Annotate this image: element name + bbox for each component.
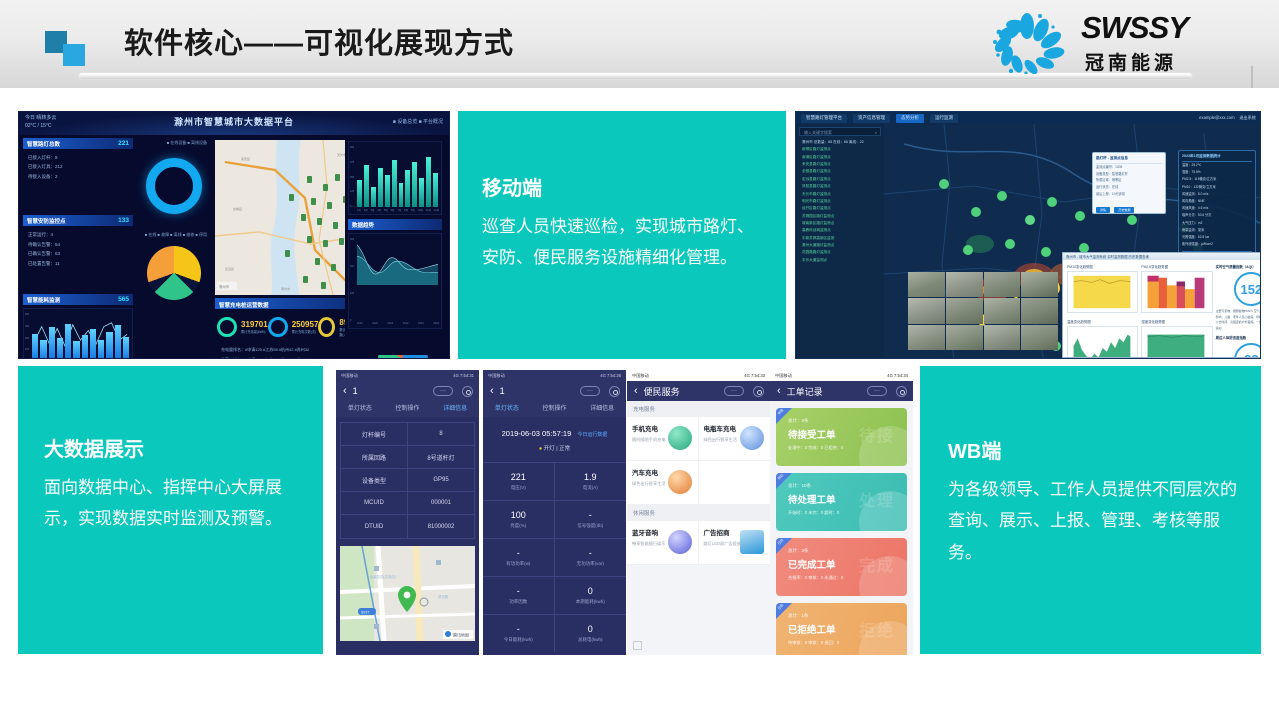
metric-label: 功率因数: [509, 599, 527, 605]
gis-tree-item[interactable]: 来安县路灯监测点: [802, 161, 881, 168]
more-icon[interactable]: ···: [433, 386, 453, 396]
metric-value: -: [589, 510, 592, 520]
row-value: 000001: [408, 492, 474, 514]
status-right: 4G 7:54:34: [887, 373, 908, 378]
service-item[interactable]: 汽车充电 绿色出行智享生活: [627, 461, 699, 505]
card-header-streetlight: 智慧路灯总数 221: [23, 138, 133, 149]
info-row: 风向角度：NNE: [1182, 198, 1252, 205]
service-grid-charging: 手机充电 随时随地手机充电 电瓶车充电 绿色出行智享生活 汽车充电 绿色出行智享…: [627, 417, 770, 505]
phone-statusbar: 中国移动 4G 7:54:33: [627, 370, 770, 381]
metric-label: 总耗电(kwh): [578, 637, 603, 643]
pm10-plot: [1068, 272, 1137, 312]
panel-bigdata-body: 面向数据中心、指挥中心大屏展示，实现数据实时监测及预警。: [44, 472, 303, 535]
metric-value: 0: [588, 624, 593, 634]
gis-username: example@xxx.com: [1199, 115, 1234, 120]
gis-tree-item[interactable]: 全椒县路灯监测点: [802, 168, 881, 175]
phone-tabs[interactable]: 单灯状态 控制操作 详细信息: [336, 401, 479, 417]
info-row: 大气压力：m2: [1182, 220, 1252, 227]
comfort-index-title: 周边人体舒适度指数: [1216, 335, 1260, 340]
bar-chart-y-axis: 4003002001000: [25, 313, 32, 359]
table-row: 灯杆编号 8: [341, 423, 474, 446]
camera-feed[interactable]: [1021, 325, 1058, 350]
metric-cell: - 今日能耗(kwh): [483, 614, 555, 652]
metric-cell: - 有功功率(w): [483, 538, 555, 576]
header-square-light-icon: [63, 44, 85, 66]
nav-title: 1: [353, 386, 358, 396]
temp-plot: [1068, 327, 1137, 358]
aqi-window-title: 滁州市 - 城市大气监测系统 实时监测数据 历史数据查询: [1066, 255, 1149, 259]
popup-row: 所属区域：琅琊区: [1096, 177, 1162, 184]
gis-tree-item[interactable]: 凤阳县路灯监测点: [802, 183, 881, 190]
temperature-trend-chart: [1067, 326, 1138, 358]
row-key: MCUID: [341, 492, 408, 514]
card-value: 133: [118, 217, 129, 224]
table-row: DTUID 81000002: [341, 515, 474, 538]
legend-security: ■ 在线 ■ 故障 ■ 离线 ■ 维修 ■ 停用: [137, 230, 211, 238]
back-icon[interactable]: ‹: [343, 385, 347, 397]
status-text: 开灯 | 正常: [544, 446, 571, 452]
gis-tree-item[interactable]: 滁州大道路灯监测点: [802, 242, 881, 249]
svg-text:明光市: 明光市: [281, 286, 290, 291]
gis-toolbar: 智慧路灯管理平台 资产信息管理 态势分析 运行监测 example@xxx.co…: [796, 112, 1260, 124]
aqi-content-grid: PM10变化趋势图 温度变化趋势图: [1063, 260, 1260, 358]
aqi-description: 主要污染物：细颗粒物PM2.5 空气质量：轻度污染 健康影响：儿童、老年人及心脏…: [1216, 309, 1260, 332]
camera-feed[interactable]: [1021, 298, 1058, 323]
metric-value: -: [589, 548, 592, 558]
metric-cell: 1.9 电流(A): [555, 462, 627, 500]
search-icon[interactable]: ⌕: [875, 130, 877, 135]
detail-table: 灯杆编号 8 所属回路 8号道杆灯 设备类型 GP95 MCUID 000001…: [340, 422, 475, 539]
card-title: 智慧能耗监测: [27, 298, 60, 304]
status-right: 4G 7:54:31: [453, 373, 474, 378]
row-key: 设备类型: [341, 469, 408, 491]
metric-label: 无功功率(var): [577, 561, 604, 567]
metric-value: -: [517, 586, 520, 596]
nav-title: 1: [500, 386, 505, 396]
gis-logout-link[interactable]: 退出系统: [1239, 115, 1256, 120]
legend-streetlight: ■ 在线设备 ■ 离线设备: [137, 138, 211, 146]
row-value: GP95: [408, 469, 474, 491]
svg-text:来安县: 来安县: [241, 156, 250, 161]
gis-tree-item[interactable]: 花园路路灯监测点: [802, 249, 881, 256]
charging-kpi-row: 319701 累计充电量(kWh) 250957 累计充电次数(次) 894 累…: [215, 309, 363, 345]
metrics-grid: 221 电压(V) 1.9 电流(A) 100 亮度(%) - 信号强度(db)…: [483, 462, 626, 652]
aqi-chart-title: PM10变化趋势图: [1067, 264, 1138, 269]
info-row: 湿度：75.5%: [1182, 169, 1252, 176]
row-value: 8: [408, 423, 474, 445]
gis-tree-item[interactable]: 天长市路灯监测点: [802, 191, 881, 198]
metric-label: 今日能耗(kwh): [504, 637, 533, 643]
popup-row: 设备类型：智慧路灯杆: [1096, 171, 1162, 178]
dashboard-far-right-charts: 5003752501250 1月2月3月4月5月6月 7月8月9月10月11月1…: [345, 137, 445, 355]
camera-feed[interactable]: [946, 272, 983, 297]
gis-heatmap[interactable]: 路灯杆 - 监测点信息 监测点编号：1008 设备类型：智慧路灯杆 所属区域：琅…: [884, 124, 1260, 358]
metric-label: 有功功率(w): [506, 561, 530, 567]
panel-wb-body: 为各级领导、工作人员提供不同层次的查询、展示、上报、管理、考核等服务。: [948, 474, 1241, 568]
card-title: 智慧安防监控点: [27, 219, 66, 225]
section-label-charging: 充电服务: [627, 401, 770, 417]
phone-tabs[interactable]: 单灯状态 控制操作 详细信息: [483, 401, 626, 417]
service-grid-leisure: 蓝牙音响 畅享智能随行娱乐 广告招商 路灯LED屏广告投放: [627, 521, 770, 565]
kpi-value: 250957: [292, 320, 319, 329]
panel-mobile-body: 巡查人员快速巡检，实现城市路灯、安防、便民服务设施精细化管理。: [482, 211, 764, 274]
svg-text:全椒县: 全椒县: [233, 206, 242, 211]
home-indicator-icon: [633, 641, 642, 650]
camera-feed[interactable]: [946, 325, 983, 350]
aqi-window[interactable]: 滁州市 - 城市大气监测系统 实时监测数据 历史数据查询 ⎯ ▫ ✕ PM10变…: [1062, 252, 1260, 358]
table-row: 设备类型 GP95: [341, 469, 474, 492]
close-circle-icon[interactable]: [896, 386, 907, 397]
donut-chart-streetlight: [146, 158, 202, 214]
gis-tree-item[interactable]: 南谯区路灯监测点: [802, 154, 881, 161]
green-bars: [357, 148, 438, 207]
gis-info-panel[interactable]: 2023年1月监测数据统计 温度：25.2℃ 湿度：75.5% PM2.5：11…: [1178, 150, 1256, 260]
info-panel-rows: 温度：25.2℃ 湿度：75.5% PM2.5：116微克/立方米 PM10：1…: [1182, 162, 1252, 248]
kpi-label: 累计充电量(kWh): [241, 329, 268, 334]
metric-value: -: [517, 548, 520, 558]
workorder-card-pending-accept[interactable]: 待接 待接 总计：3条 待接受工单 处理中：0 完成：0 已拒绝：0: [776, 408, 907, 466]
panel-bigdata: 大数据展示 面向数据中心、指挥中心大屏展示，实现数据实时监测及预警。: [18, 366, 323, 654]
camera-feed[interactable]: [908, 272, 945, 297]
svg-text:腾讯地图: 腾讯地图: [453, 632, 469, 638]
more-icon[interactable]: ···: [867, 386, 887, 396]
dashboard-title-strip: 今日 晴转多云02°C / 15°C 滁州市智慧城市大数据平台 ■ 设备总览 ■…: [19, 112, 449, 135]
card-title: 智慧路灯总数: [27, 142, 60, 148]
more-icon[interactable]: ···: [580, 386, 600, 396]
tab-lamp-status[interactable]: 单灯状态: [483, 401, 531, 417]
phone-navbar: ‹ 1 ···: [336, 381, 479, 401]
info-row: PM10：132微克/立方米: [1182, 184, 1252, 191]
gis-tree-root[interactable]: 滁州市 总数量：88 在线：66 离线：22: [802, 139, 881, 146]
slide-root: 软件核心——可视化展现方式: [0, 0, 1279, 720]
gis-tree-list[interactable]: 滁州市 总数量：88 在线：66 离线：22 琅琊区路灯监测点 南谯区路灯监测点…: [799, 136, 881, 264]
gis-tab-2[interactable]: 态势分析: [896, 114, 924, 123]
aqi-index-title: 实时空气质量指数（AQI）: [1216, 264, 1260, 269]
workorder-card-pending-process[interactable]: 待处 处理 总计：10条 待处理工单 开始时：0 未完：0 超时：0: [776, 473, 907, 531]
metric-value: 100: [511, 510, 526, 520]
header-divider-tick: [1251, 66, 1253, 88]
phone-navbar: ‹ 便民服务 ···: [627, 381, 770, 401]
aqi-col-3: 实时空气质量指数（AQI） 152 主要污染物：细颗粒物PM2.5 空气质量：轻…: [1216, 264, 1260, 358]
camera-feed[interactable]: [908, 298, 945, 323]
metric-label: 电压(V): [511, 485, 526, 491]
today-data-link[interactable]: 今日运行数据: [577, 432, 607, 438]
popup-rows: 监测点编号：1008 设备类型：智慧路灯杆 所属区域：琅琊区 运行状态：在线 最…: [1096, 164, 1162, 198]
aqi-chart-title: 温度变化趋势图: [1067, 319, 1138, 324]
card-ghost-text: 待接: [859, 422, 895, 446]
metric-label: 本期能耗(kwh): [576, 599, 605, 605]
camera-feed[interactable]: [984, 298, 1021, 323]
panel-mobile-title: 移动端: [482, 177, 764, 201]
card-value: 565: [118, 296, 129, 303]
kpi-ring-icon: [268, 317, 288, 337]
info-row: 雨量监测：毫米: [1182, 227, 1252, 234]
nav-title: 工单记录: [787, 385, 823, 398]
dashboard-top-links[interactable]: ■ 设备总览 ■ 平台概况: [393, 118, 443, 125]
kpi-label: 累计充电次数(次): [292, 329, 319, 334]
info-row: 紫外线强度：μW/cm2: [1182, 241, 1252, 248]
metric-cell: 0 总耗电(kwh): [555, 614, 627, 652]
logo-subtitle: 冠南能源: [1085, 48, 1177, 75]
svg-text:远景花园(苏滁店): 远景花园(苏滁店): [370, 574, 396, 579]
phone-screenshot-status[interactable]: 中国移动 4G 7:54:26 ‹ 1 ··· 单灯状态 控制操作 详细信息 2…: [483, 370, 626, 655]
card-value: 221: [118, 140, 129, 147]
card-header-trend: 数据趋势: [348, 219, 442, 230]
logo-wordmark: SWSSY: [1081, 10, 1188, 46]
status-right: 4G 7:54:26: [600, 373, 621, 378]
charging-banner: 智慧充电桩运营数据: [215, 298, 363, 309]
info-row: 噪声分贝：50.6 分贝: [1182, 212, 1252, 219]
gis-user-area[interactable]: example@xxx.com 退出系统: [1199, 115, 1256, 121]
dashboard-left-column: 智慧路灯总数 221 已接入灯杆：8已接入灯具：212待接入设备：2 智慧安防监…: [23, 138, 133, 354]
green-bar-x-axis: 1月2月3月4月5月6月 7月8月9月10月11月12月: [357, 208, 439, 214]
back-icon[interactable]: ‹: [777, 385, 781, 397]
row-key: DTUID: [341, 515, 408, 538]
service-item[interactable]: 蓝牙音响 畅享智能随行娱乐: [627, 521, 699, 565]
phone-screenshot-services[interactable]: 中国移动 4G 7:54:33 ‹ 便民服务 ··· 充电服务 手机充电 随时随…: [627, 370, 770, 655]
panel-mobile: 移动端 巡查人员快速巡检，实现城市路灯、安防、便民服务设施精细化管理。: [458, 111, 786, 359]
kpi-value: 319701: [241, 320, 268, 329]
card-header-security: 智慧安防监控点 133: [23, 215, 133, 226]
nav-title: 便民服务: [644, 385, 680, 398]
gis-tree-item[interactable]: 苏滁园区路灯监测点: [802, 213, 881, 220]
gis-tab-0[interactable]: 智慧路灯管理平台: [801, 114, 847, 123]
gis-dashboard-screenshot[interactable]: 智慧路灯管理平台 资产信息管理 态势分析 运行监测 example@xxx.co…: [795, 111, 1261, 359]
svg-text:滁州市: 滁州市: [219, 284, 230, 289]
gis-tab-3[interactable]: 运行监测: [930, 114, 958, 123]
metric-value: -: [517, 624, 520, 634]
aqi-window-titlebar: 滁州市 - 城市大气监测系统 实时监测数据 历史数据查询 ⎯ ▫ ✕: [1063, 253, 1260, 260]
card-lines-security: 正常运行：4待确认告警：54已确认告警：63已处置告警：11: [23, 226, 133, 268]
metric-value: 1.9: [584, 472, 597, 482]
card-title: 数据趋势: [352, 223, 374, 229]
row-value: 81000002: [408, 515, 474, 538]
row-value: 8号道杆灯: [408, 446, 474, 468]
svg-text:S237: S237: [361, 611, 369, 615]
carrier-label: 中国移动: [632, 373, 649, 379]
slide-header: 软件核心——可视化展现方式: [0, 0, 1279, 88]
car-charge-icon: [668, 470, 692, 494]
kpi-ring-icon: [217, 317, 237, 337]
popup-row: 运行状态：在线: [1096, 184, 1162, 191]
phone-statusbar: 中国移动 4G 7:54:31: [336, 370, 479, 381]
pm25-trend-chart: [1141, 271, 1212, 313]
popup-history-button[interactable]: 历史数据: [1114, 207, 1134, 213]
info-row: PM2.5：116微克/立方米: [1182, 176, 1252, 183]
phone-statusbar: 中国移动 4G 7:54:26: [483, 370, 626, 381]
pie-chart-security: [147, 246, 201, 300]
camera-feed[interactable]: [908, 325, 945, 350]
gis-tree-item[interactable]: 中新苏滁高新区监测: [802, 235, 881, 242]
svg-text:定远县: 定远县: [225, 266, 234, 271]
reading-timestamp: 2019-06-03 05:57:19 今日运行数据: [483, 417, 626, 438]
back-icon[interactable]: ‹: [490, 385, 494, 397]
table-row: 所属回路 8号道杆灯: [341, 446, 474, 469]
popup-row: 监测点编号：1008: [1096, 164, 1162, 171]
service-item[interactable]: 电瓶车充电 绿色出行智享生活: [699, 417, 771, 461]
service-item[interactable]: 广告招商 路灯LED屏广告投放: [699, 521, 771, 565]
gis-tree-item[interactable]: 定远县路灯监测点: [802, 176, 881, 183]
gis-tree-item[interactable]: 高教科创城监测点: [802, 227, 881, 234]
camera-feed[interactable]: [984, 272, 1021, 297]
status-right: 4G 7:54:33: [744, 373, 765, 378]
metric-label: 电流(A): [583, 485, 598, 491]
info-row: 光照强度：62.5 lux: [1182, 234, 1252, 241]
dashboard-city-map[interactable]: 来安县全椒县天长市 定远县明光市 滁州市: [215, 140, 363, 295]
more-icon[interactable]: ···: [724, 386, 744, 396]
info-row: 风速监测：8.0 m/s: [1182, 191, 1252, 198]
metric-label: 信号强度(db): [577, 523, 603, 529]
gis-search-placeholder: 输入关键字搜索: [804, 130, 832, 135]
back-icon[interactable]: ‹: [634, 385, 638, 397]
camera-feed[interactable]: [984, 325, 1021, 350]
gis-search-input[interactable]: 输入关键字搜索 ⌕: [799, 127, 881, 136]
close-circle-icon[interactable]: [753, 386, 764, 397]
phone-charge-icon: [668, 426, 692, 450]
popup-detail-button[interactable]: 详情: [1096, 207, 1110, 213]
pm10-trend-chart: [1067, 271, 1138, 313]
aqi-col-1: PM10变化趋势图 温度变化趋势图: [1067, 264, 1138, 358]
rank-row: 运营商排名：#申请125 #江苏98 #杭州42 #苏州32: [221, 355, 363, 359]
map-graphic: 远景花园(苏滁店)清流路 S237 腾讯地图: [340, 546, 475, 641]
tab-lamp-status[interactable]: 单灯状态: [336, 401, 384, 417]
svg-text:清流路: 清流路: [438, 594, 449, 599]
card-ghost-text: 拒绝: [859, 617, 895, 641]
metric-cell: 0 本期能耗(kwh): [555, 576, 627, 614]
bar-chart-energy: 4003002001000 1月2月3月4月5月6月 7月8月9月10月11月1…: [23, 308, 133, 359]
service-item[interactable]: 手机充电 随时随地手机充电: [627, 417, 699, 461]
metric-cell: - 功率因数: [483, 576, 555, 614]
phone-location-map[interactable]: 远景花园(苏滁店)清流路 S237 腾讯地图: [340, 546, 475, 641]
phone-screenshot-workorders[interactable]: 中国移动 4G 7:54:34 ‹ 工单记录 ··· 待接 待接 总计：3条 待…: [770, 370, 913, 655]
comfort-value-circle: 82: [1234, 343, 1260, 358]
humidity-plot: [1142, 327, 1211, 358]
charging-banner-block: 智慧充电桩运营数据 319701 累计充电量(kWh) 250957 累计充电次…: [215, 298, 363, 359]
dashboard-title: 滁州市智慧城市大数据平台: [19, 115, 449, 128]
service-item-empty: [699, 461, 771, 505]
card-lines-streetlight: 已接入灯杆：8已接入灯具：212待接入设备：2: [23, 149, 133, 181]
gis-tab-1[interactable]: 资产信息管理: [853, 114, 890, 123]
card-ghost-text: 完成: [859, 552, 895, 576]
ebike-charge-icon: [740, 426, 764, 450]
ad-board-icon: [740, 530, 764, 554]
info-row: 温度：25.2℃: [1182, 162, 1252, 169]
camera-feed[interactable]: [1021, 272, 1058, 297]
tab-control[interactable]: 控制操作: [531, 401, 579, 417]
wave-y-axis: 3002001000: [350, 238, 357, 322]
carrier-label: 中国移动: [488, 373, 505, 379]
gis-tree-panel[interactable]: 输入关键字搜索 ⌕ 滁州市 总数量：88 在线：66 离线：22 琅琊区路灯监测…: [796, 124, 884, 358]
gis-tree-item[interactable]: 城南新区路灯监测点: [802, 220, 881, 227]
carrier-label: 中国移动: [775, 373, 792, 379]
green-bar-chart: 5003752501250 1月2月3月4月5月6月 7月8月9月10月11月1…: [348, 141, 442, 215]
phone-screenshot-detail[interactable]: 中国移动 4G 7:54:31 ‹ 1 ··· 单灯状态 控制操作 详细信息 灯…: [336, 370, 479, 655]
bulb-icon: ●: [539, 446, 542, 452]
water-drop-logo-icon: [981, 12, 1073, 74]
close-circle-icon[interactable]: [609, 386, 620, 397]
aqi-col-2: PM2.5变化趋势图: [1141, 264, 1212, 358]
wave-chart: 3002001000 201920202021202220232024: [348, 233, 442, 329]
section-label-leisure: 休闲服务: [627, 505, 770, 521]
info-row: 风速风速：4.6 m/s: [1182, 205, 1252, 212]
panel-wb: WB端 为各级领导、工作人员提供不同层次的查询、展示、上报、管理、考核等服务。: [920, 366, 1261, 654]
camera-feed[interactable]: [946, 298, 983, 323]
popup-row: 最后上报：10分钟前: [1096, 191, 1162, 198]
tab-detail[interactable]: 详细信息: [431, 401, 479, 417]
gis-tree-item[interactable]: 明光市路灯监测点: [802, 198, 881, 205]
info-panel-title: 2023年1月监测数据统计: [1182, 154, 1252, 162]
charging-rank-rows: 充电量排名：#申请125 #江苏98 #杭州42 #苏州32 运营商排名：#申请…: [215, 345, 363, 359]
timestamp-value: 2019-06-03 05:57:19: [502, 429, 572, 438]
kpi-item: 319701 累计充电量(kWh): [217, 317, 268, 337]
phone-navbar: ‹ 工单记录 ···: [770, 381, 913, 401]
panel-bigdata-title: 大数据展示: [44, 438, 303, 462]
wave-paths: [357, 240, 438, 285]
metric-cell: - 信号强度(db): [555, 500, 627, 538]
rank-row: 充电量排名：#申请125 #江苏98 #杭州42 #苏州32: [221, 345, 363, 355]
bar-chart-bars: [32, 315, 129, 359]
workorder-card-rejected[interactable]: 已拒 拒绝 总计：1条 已拒绝工单 待审核：0 审核：0 退回：0: [776, 603, 907, 655]
gis-tree-item[interactable]: 经开区路灯监测点: [802, 205, 881, 212]
workorder-card-completed[interactable]: 已完 完成 总计：2条 已完成工单 合格率：0 审核：0 未通过：0: [776, 538, 907, 596]
aqi-chart-title: PM2.5变化趋势图: [1141, 264, 1212, 269]
row-key: 所属回路: [341, 446, 408, 468]
table-row: MCUID 000001: [341, 492, 474, 515]
aqi-chart-title: 湿度变化趋势图: [1141, 319, 1212, 324]
gis-tree-item[interactable]: 丰乐大道监测点: [802, 257, 881, 264]
gis-tree-item[interactable]: 琅琊区路灯监测点: [802, 146, 881, 153]
company-logo: SWSSY 冠南能源: [981, 8, 1221, 78]
phone-statusbar: 中国移动 4G 7:54:34: [770, 370, 913, 381]
row-key: 灯杆编号: [341, 423, 408, 445]
page-title: 软件核心——可视化展现方式: [124, 20, 514, 62]
aqi-value-circle: 152: [1234, 272, 1260, 306]
map-graphic: 来安县全椒县天长市 定远县明光市 滁州市: [215, 140, 363, 295]
tab-detail[interactable]: 详细信息: [578, 401, 626, 417]
metric-cell: - 无功功率(var): [555, 538, 627, 576]
metric-cell: 100 亮度(%): [483, 500, 555, 538]
card-ghost-text: 处理: [859, 487, 895, 511]
kpi-item: 250957 累计充电次数(次): [268, 317, 319, 337]
metric-label: 亮度(%): [510, 523, 526, 529]
popup-title: 路灯杆 - 监测点信息: [1096, 156, 1162, 164]
camera-grid[interactable]: [908, 272, 1058, 350]
metric-cell: 221 电压(V): [483, 462, 555, 500]
kpi-ring-icon: [318, 317, 335, 337]
phone-navbar: ‹ 1 ···: [483, 381, 626, 401]
carrier-label: 中国移动: [341, 373, 358, 379]
wave-x-axis: 201920202021202220232024: [357, 322, 439, 328]
charging-banner-label: 智慧充电桩运营数据: [215, 298, 363, 309]
tab-control[interactable]: 控制操作: [384, 401, 432, 417]
gis-map-popup[interactable]: 路灯杆 - 监测点信息 监测点编号：1008 设备类型：智慧路灯杆 所属区域：琅…: [1092, 152, 1166, 214]
close-circle-icon[interactable]: [462, 386, 473, 397]
metric-value: 0: [588, 586, 593, 596]
card-header-energy: 智慧能耗监测 565: [23, 294, 133, 305]
dashboard-middle-column: ■ 在线设备 ■ 离线设备 ■ 在线 ■ 故障 ■ 离线 ■ 维修 ■ 停用: [137, 138, 211, 354]
humidity-trend-chart: [1141, 326, 1212, 358]
bluetooth-speaker-icon: [668, 530, 692, 554]
green-bar-y-axis: 5003752501250: [350, 146, 357, 208]
panel-wb-title: WB端: [948, 440, 1241, 464]
metric-value: 221: [511, 472, 526, 482]
pm25-plot: [1142, 272, 1211, 312]
lamp-status-line: ● 开灯 | 正常: [483, 438, 626, 462]
